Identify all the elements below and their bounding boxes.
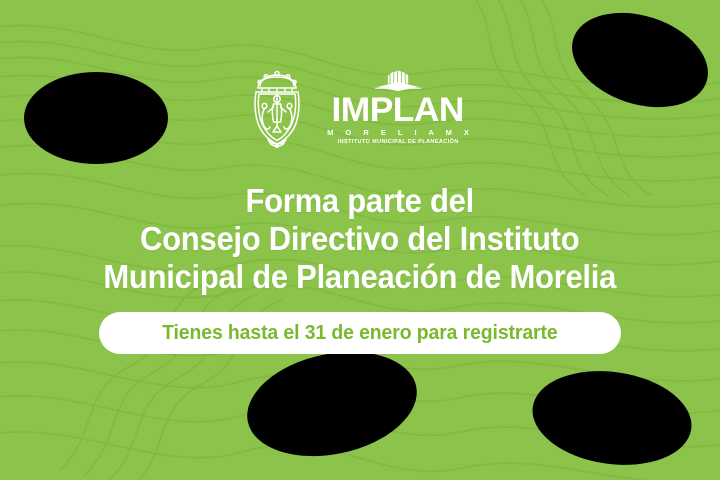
headline-line-3: Municipal de Planeación de Morelia [104,258,617,296]
implan-institute-subtitle: INSTITUTO MUNICIPAL DE PLANEACIÓN [337,138,458,146]
deadline-text: Tienes hasta el 31 de enero para registr… [162,323,557,343]
headline-line-1: Forma parte del [104,182,617,220]
implan-building-icon [367,70,429,92]
implan-wordmark-block: IMPLAN M O R E L I A M X INSTITUTO MUNIC… [322,70,474,148]
morelia-coat-of-arms-icon [246,70,308,148]
logo-lockup: IMPLAN M O R E L I A M X INSTITUTO MUNIC… [246,70,474,148]
implan-city-subtitle: M O R E L I A M X [322,128,474,138]
headline-line-2: Consejo Directivo del Instituto [104,220,617,258]
banner-content: IMPLAN M O R E L I A M X INSTITUTO MUNIC… [0,0,720,480]
implan-wordmark-text: IMPLAN [332,93,464,127]
promo-banner: IMPLAN M O R E L I A M X INSTITUTO MUNIC… [0,0,720,480]
deadline-badge[interactable]: Tienes hasta el 31 de enero para registr… [99,312,621,354]
page-title: Forma parte del Consejo Directivo del In… [104,182,617,296]
